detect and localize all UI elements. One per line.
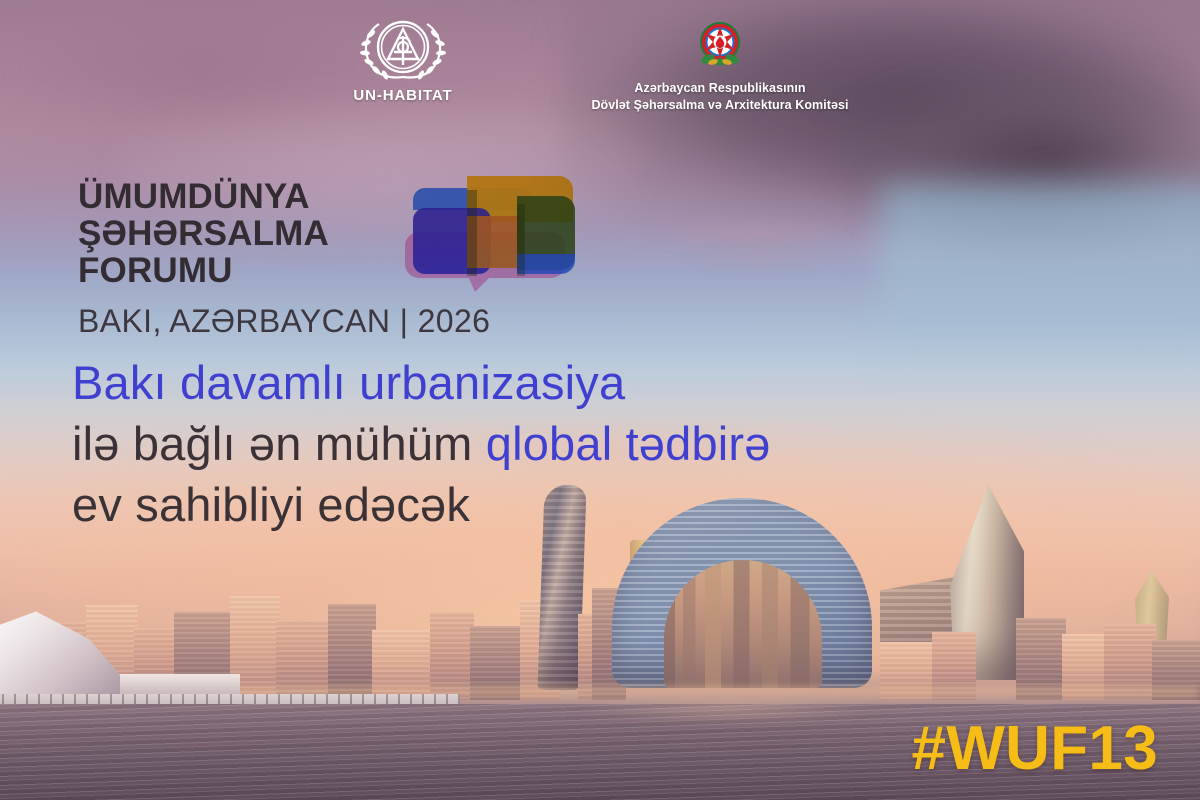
cloud-wisp-2 [660,245,860,269]
government-name-line2: Dövlət Şəhərsalma və Arxitektura Komitəs… [555,97,885,114]
headline-line1-text: Bakı davamlı urbanizasiya [72,356,625,409]
sky-blue-band [880,185,1200,375]
headline-line3-dark: ev sahibliyi edəcək [72,478,470,531]
headline-line2-blue: qlobal tədbirə [486,417,771,470]
headline-line1: Bakı davamlı urbanizasiya [72,352,952,413]
forum-location-year: BAKI, AZƏRBAYCAN | 2026 [78,303,548,340]
azerbaijan-state-emblem-icon [555,18,885,75]
wuf-brand-block: ÜMUMDÜNYA ŞƏHƏRSALMA FORUMU BAKI, AZƏRBA… [78,178,548,340]
headline: Bakı davamlı urbanizasiya ilə bağlı ən m… [72,352,952,535]
un-habitat-logo-icon [333,14,473,84]
government-logo: Azərbaycan Respublikasının Dövlət Şəhərs… [555,18,885,114]
un-habitat-logo: UN-HABITAT [333,14,473,104]
poster-canvas: UN-HABITAT [0,0,1200,800]
wuf-cube-speech-bubble-icon [405,170,585,295]
headline-line2-dark: ilə bağlı ən mühüm [72,417,486,470]
headline-line2: ilə bağlı ən mühüm qlobal tədbirə [72,413,952,474]
header-logos: UN-HABITAT [0,0,1200,130]
government-name-line1: Azərbaycan Respublikasının [555,80,885,97]
hashtag-wuf13: #WUF13 [912,713,1158,784]
headline-line3: ev sahibliyi edəcək [72,474,952,535]
un-habitat-label: UN-HABITAT [333,87,473,104]
